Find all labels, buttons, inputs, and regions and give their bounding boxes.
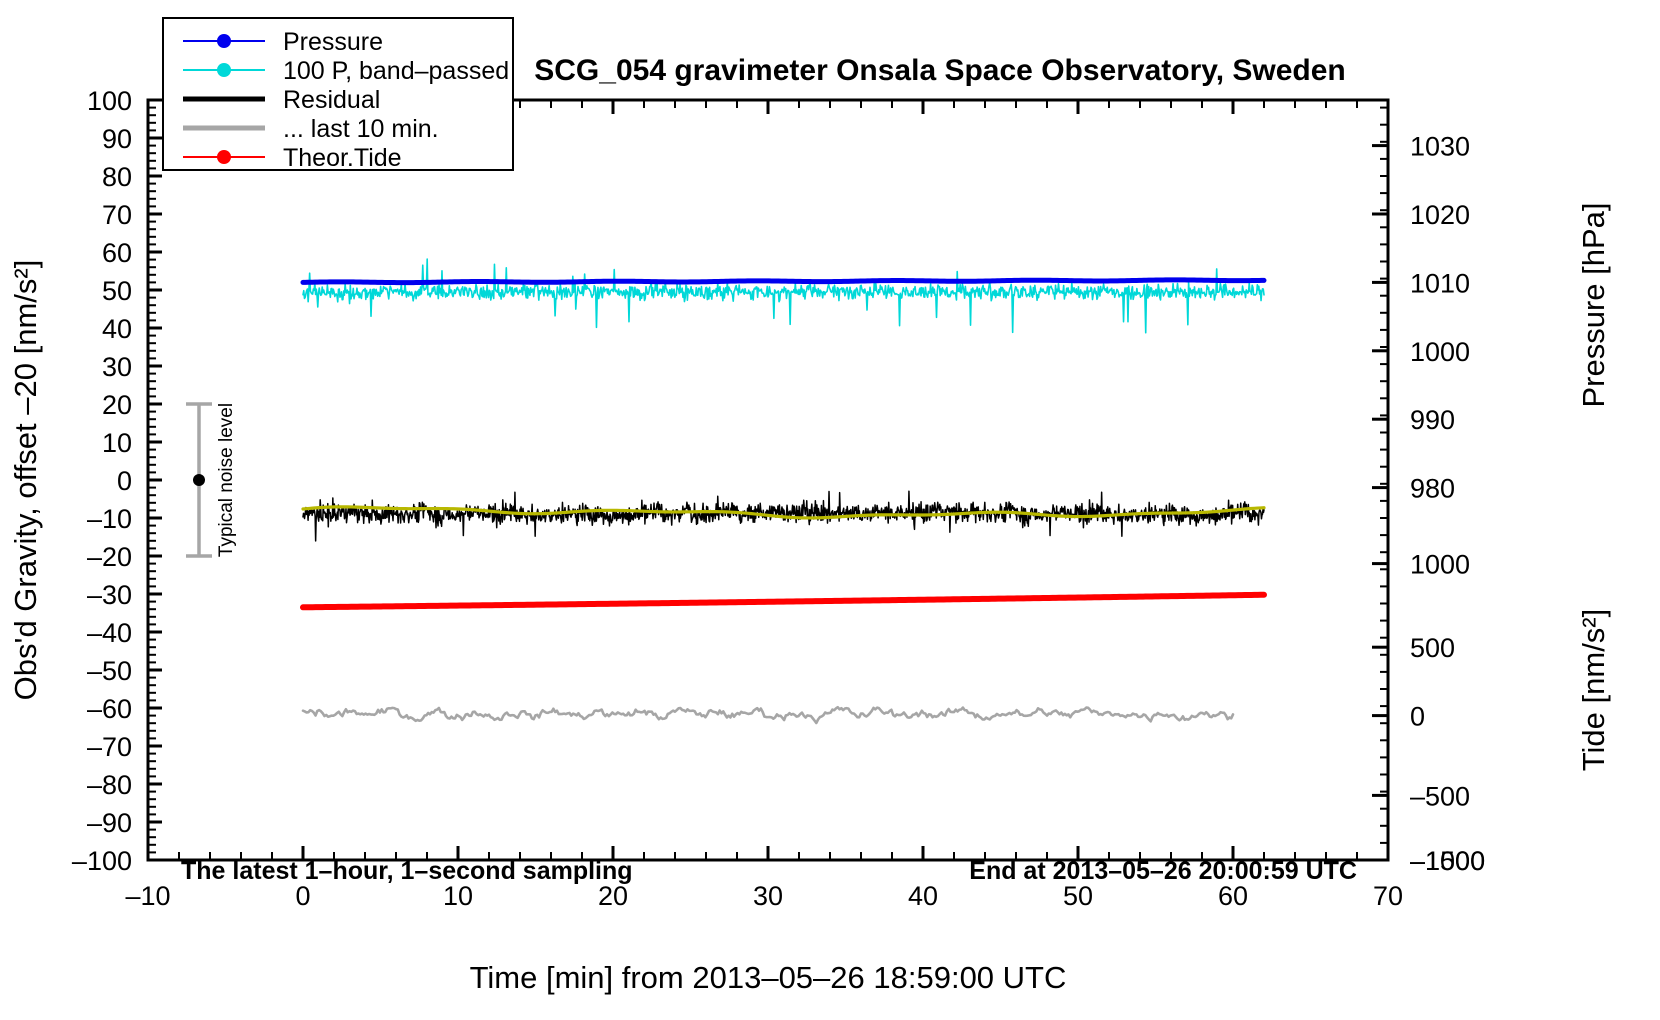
y-tick-label: –40: [87, 618, 132, 648]
y-tick-label: –50: [87, 656, 132, 686]
y-tick-label: 70: [102, 200, 132, 230]
right-top-axis-title: Pressure [hPa]: [1576, 202, 1611, 407]
y-tick-label: 40: [102, 314, 132, 344]
tide-tick-label: 0: [1410, 702, 1425, 732]
x-tick-label: 50: [1063, 881, 1093, 911]
pressure-tick-label: 1020: [1410, 200, 1470, 230]
y-tick-label: –100: [72, 846, 132, 876]
y-tick-label: 100: [87, 86, 132, 116]
legend-item-label: Residual: [283, 86, 380, 114]
tide-tick-label: –1500: [1410, 846, 1485, 876]
page-title: SCG_054 gravimeter Onsala Space Observat…: [534, 54, 1346, 87]
legend-item-label: 100 P, band–passed: [283, 57, 509, 85]
y-tick-label: 30: [102, 352, 132, 382]
y-tick-label: 50: [102, 276, 132, 306]
x-tick-label: 30: [753, 881, 783, 911]
y-tick-label: 10: [102, 428, 132, 458]
gravimeter-plot-figure: –100102030405060701009080706050403020100…: [0, 0, 1660, 1020]
legend-swatch-dot: [217, 34, 231, 48]
x-tick-label: 0: [295, 881, 310, 911]
y-tick-label: –30: [87, 580, 132, 610]
x-tick-label: 70: [1373, 881, 1403, 911]
y-tick-label: –80: [87, 770, 132, 800]
x-tick-label: 10: [443, 881, 473, 911]
pressure-tick-label: 1000: [1410, 337, 1470, 367]
x-tick-label: 60: [1218, 881, 1248, 911]
y-tick-label: 20: [102, 390, 132, 420]
y-tick-label: 0: [117, 466, 132, 496]
y-tick-label: –60: [87, 694, 132, 724]
y-tick-label: –10: [87, 504, 132, 534]
y-tick-label: –90: [87, 808, 132, 838]
left-axis-title: Obs'd Gravity, offset –20 [nm/s²]: [8, 260, 43, 701]
x-tick-label: –10: [125, 881, 170, 911]
legend-swatch-dot: [217, 63, 231, 77]
pressure-tick-label: 980: [1410, 474, 1455, 504]
x-tick-label: 40: [908, 881, 938, 911]
legend-swatch-dot: [217, 150, 231, 164]
y-tick-label: 80: [102, 162, 132, 192]
series-pressure: [303, 280, 1264, 283]
bottom-left-caption: The latest 1–hour, 1–second sampling: [181, 857, 633, 885]
pressure-tick-label: 990: [1410, 405, 1455, 435]
plot-canvas: –100102030405060701009080706050403020100…: [0, 0, 1660, 1020]
pressure-tick-label: 1010: [1410, 268, 1470, 298]
tide-tick-label: 500: [1410, 633, 1455, 663]
x-tick-label: 20: [598, 881, 628, 911]
bottom-axis-title: Time [min] from 2013–05–26 18:59:00 UTC: [470, 960, 1067, 995]
tide-tick-label: 1000: [1410, 550, 1470, 580]
noise-level-label: Typical noise level: [216, 403, 237, 557]
y-tick-label: –20: [87, 542, 132, 572]
legend-item-label: Theor.Tide: [283, 144, 402, 172]
tide-tick-label: –500: [1410, 781, 1470, 811]
bottom-right-caption: End at 2013–05–26 20:00:59 UTC: [969, 857, 1357, 885]
legend-item-label: Pressure: [283, 28, 383, 56]
legend-item-label: ... last 10 min.: [283, 115, 439, 143]
y-tick-label: 60: [102, 238, 132, 268]
y-tick-label: –70: [87, 732, 132, 762]
legend: Pressure100 P, band–passedResidual... la…: [163, 18, 513, 172]
pressure-tick-label: 1030: [1410, 132, 1470, 162]
y-tick-label: 90: [102, 124, 132, 154]
right-bottom-axis-title: Tide [nm/s²]: [1576, 609, 1611, 772]
